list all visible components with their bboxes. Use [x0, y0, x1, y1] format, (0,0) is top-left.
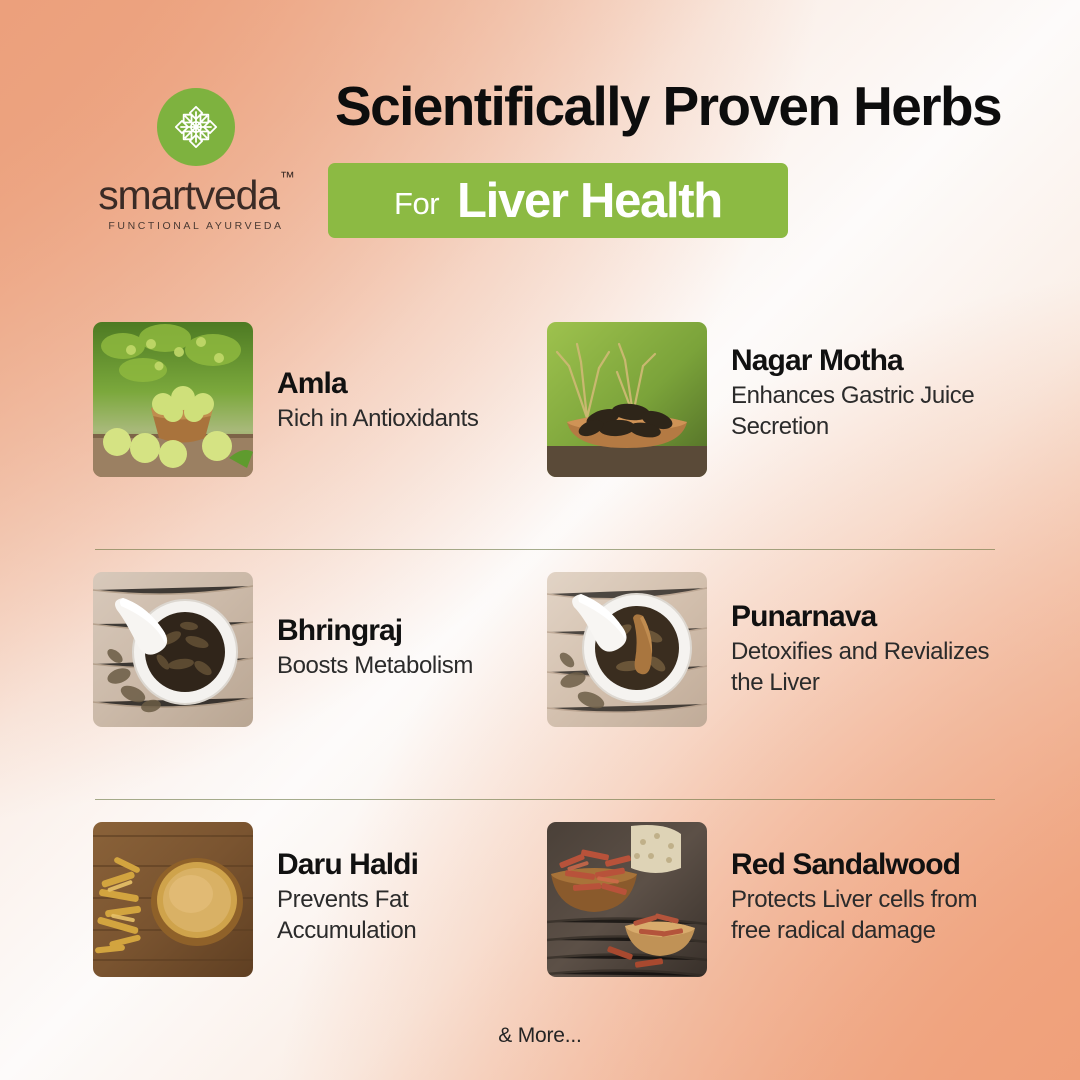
herb-text: Daru Haldi Prevents Fat Accumulation [253, 822, 533, 946]
herb-card-nagar-motha[interactable]: Nagar Motha Enhances Gastric Juice Secre… [547, 322, 1017, 477]
amla-photo [93, 322, 253, 477]
punarnava-photo [547, 572, 707, 727]
infographic-poster: smartveda™ FUNCTIONAL AYURVEDA Scientifi… [0, 0, 1080, 1080]
bhringraj-photo [93, 572, 253, 727]
herb-name: Bhringraj [277, 614, 473, 647]
herb-row: Daru Haldi Prevents Fat Accumulation [0, 800, 1080, 1050]
herb-card-bhringraj[interactable]: Bhringraj Boosts Metabolism [93, 572, 533, 727]
herb-name: Daru Haldi [277, 848, 533, 881]
nagar-motha-photo [547, 322, 707, 477]
herb-row: Amla Rich in Antioxidants [0, 300, 1080, 550]
herb-text: Amla Rich in Antioxidants [253, 322, 478, 435]
herb-description: Protects Liver cells from free radical d… [731, 885, 1017, 946]
herb-name: Red Sandalwood [731, 848, 1017, 881]
mandala-lotus-icon [157, 88, 235, 166]
badge-topic-label: Liver Health [457, 173, 722, 229]
herb-card-red-sandalwood[interactable]: Red Sandalwood Protects Liver cells from… [547, 822, 1017, 977]
herb-text: Nagar Motha Enhances Gastric Juice Secre… [707, 322, 1017, 442]
brand-name-text: smartveda [98, 172, 279, 218]
herb-description: Enhances Gastric Juice Secretion [731, 381, 1017, 442]
herb-card-punarnava[interactable]: Punarnava Detoxifies and Revializes the … [547, 572, 1017, 727]
brand-tagline: FUNCTIONAL AYURVEDA [90, 220, 302, 232]
herb-description: Prevents Fat Accumulation [277, 885, 533, 946]
badge-prefix-label: For [394, 180, 439, 222]
more-label: & More... [0, 1024, 1080, 1048]
herb-text: Red Sandalwood Protects Liver cells from… [707, 822, 1017, 946]
herb-card-daru-haldi[interactable]: Daru Haldi Prevents Fat Accumulation [93, 822, 533, 977]
page-title: Scientifically Proven Herbs [318, 78, 1018, 136]
header: smartveda™ FUNCTIONAL AYURVEDA Scientifi… [0, 0, 1080, 270]
herb-description: Boosts Metabolism [277, 651, 473, 682]
trademark-symbol: ™ [280, 169, 295, 186]
herb-text: Punarnava Detoxifies and Revializes the … [707, 572, 1017, 698]
herb-text: Bhringraj Boosts Metabolism [253, 572, 473, 682]
herb-name: Nagar Motha [731, 344, 1017, 377]
red-sandalwood-photo [547, 822, 707, 977]
herb-name: Punarnava [731, 600, 1017, 633]
daru-haldi-photo [93, 822, 253, 977]
herb-description: Detoxifies and Revializes the Liver [731, 637, 1017, 698]
brand-logo: smartveda™ FUNCTIONAL AYURVEDA [90, 88, 302, 232]
herb-card-amla[interactable]: Amla Rich in Antioxidants [93, 322, 533, 477]
herb-name: Amla [277, 367, 478, 400]
herb-grid: Amla Rich in Antioxidants [0, 300, 1080, 1050]
brand-name: smartveda™ [98, 175, 294, 216]
herb-description: Rich in Antioxidants [277, 404, 478, 435]
topic-badge: For Liver Health [328, 163, 788, 238]
herb-row: Bhringraj Boosts Metabolism [0, 550, 1080, 800]
